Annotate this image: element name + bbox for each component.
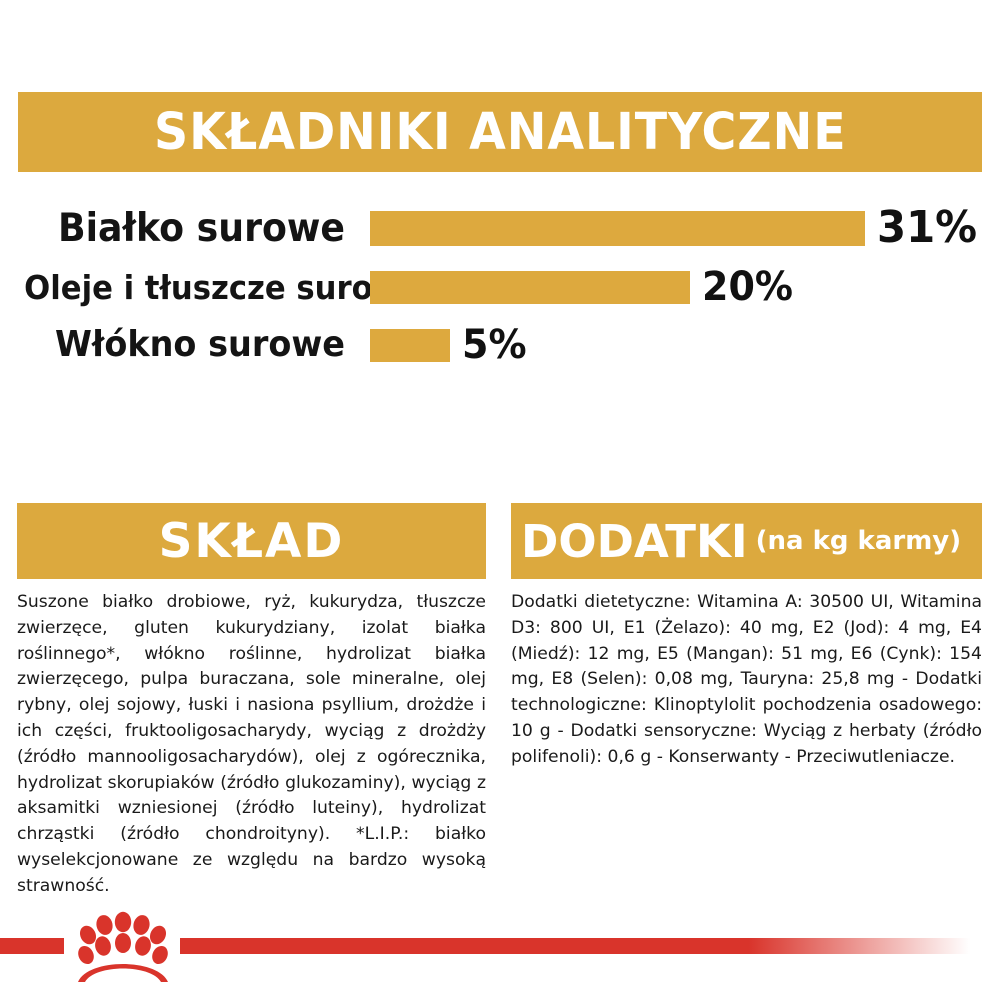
- bar-track: 5%: [345, 320, 1000, 370]
- additives-subtitle: (na kg karmy): [756, 528, 962, 554]
- composition-header: SKŁAD: [17, 503, 486, 579]
- analytical-constituents-title: SKŁADNIKI ANALITYCZNE: [154, 107, 847, 158]
- nutrient-bar: [370, 329, 450, 362]
- composition-body-text: Suszone białko drobiowe, ryż, kukurydza,…: [17, 590, 486, 900]
- royal-canin-crown-logo: [68, 908, 178, 988]
- nutrient-bar: [370, 211, 865, 246]
- chart-row: Oleje i tłuszcze surowe 20%: [0, 262, 1000, 312]
- nutrient-bar: [370, 271, 690, 304]
- footer-rule-left: [0, 938, 64, 954]
- nutrient-label: Oleje i tłuszcze surowe: [24, 271, 345, 304]
- composition-title: SKŁAD: [159, 518, 345, 565]
- footer-rule-right: [180, 938, 970, 954]
- additives-body-text: Dodatki dietetyczne: Witamina A: 30500 U…: [511, 590, 982, 771]
- chart-row: Białko surowe 31%: [0, 202, 1000, 254]
- additives-header: DODATKI (na kg karmy): [511, 503, 982, 579]
- bar-track: 20%: [345, 262, 1000, 312]
- nutrient-label: Białko surowe: [24, 209, 345, 248]
- analytical-constituents-header: SKŁADNIKI ANALITYCZNE: [18, 92, 982, 172]
- nutrient-value: 20%: [702, 267, 793, 307]
- additives-title: DODATKI: [521, 519, 748, 564]
- nutrient-label: Włókno surowe: [24, 327, 345, 363]
- nutrient-value: 31%: [877, 206, 977, 250]
- footer: [0, 900, 1000, 1000]
- nutrient-value: 5%: [462, 325, 527, 365]
- chart-row: Włókno surowe 5%: [0, 320, 1000, 370]
- nutrient-bar-chart: Białko surowe 31% Oleje i tłuszcze surow…: [0, 196, 1000, 386]
- bar-track: 31%: [345, 202, 1000, 254]
